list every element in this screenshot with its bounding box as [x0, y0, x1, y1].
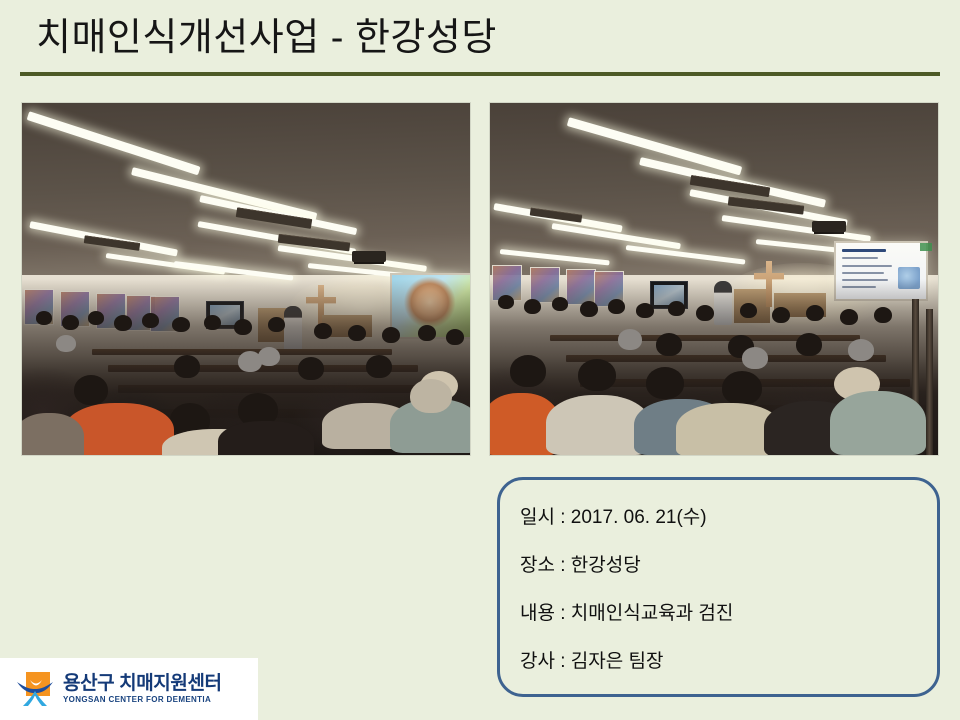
event-info-box: 일시 : 2017. 06. 21(수) 장소 : 한강성당 내용 : 치매인식… — [497, 477, 940, 697]
projector-icon — [352, 251, 386, 262]
audience-head — [114, 315, 132, 331]
audience-head — [204, 315, 221, 330]
audience-head — [722, 371, 762, 405]
audience-head — [806, 305, 824, 321]
audience-head — [298, 357, 324, 380]
audience-head — [840, 309, 858, 325]
photo-right — [490, 103, 938, 455]
audience-head — [74, 375, 108, 405]
audience-head — [36, 311, 52, 325]
audience-head — [696, 305, 714, 321]
audience-head — [498, 295, 514, 309]
info-line-date: 일시 : 2017. 06. 21(수) — [520, 494, 927, 542]
photo-left-scene — [22, 103, 470, 455]
yongsan-dementia-center-logo-icon — [16, 670, 54, 708]
projector-icon — [812, 221, 846, 232]
audience-head — [62, 315, 79, 330]
audience-head — [446, 329, 464, 345]
info-line-place: 장소 : 한강성당 — [520, 542, 927, 590]
logo-text: 용산구 치매지원센터 YONGSAN CENTER FOR DEMENTIA — [63, 673, 222, 705]
audience-torso — [22, 413, 84, 455]
audience-head — [578, 359, 616, 391]
audience-head — [268, 317, 285, 332]
audience-head — [418, 325, 436, 341]
audience-head — [668, 301, 685, 316]
audience-head — [772, 307, 790, 323]
presentation-slide: 치매인식개선사업 - 한강성당 — [0, 0, 960, 720]
audience-head — [314, 323, 332, 339]
audience-head — [410, 379, 452, 413]
photo-left — [22, 103, 470, 455]
title-divider — [20, 72, 940, 76]
screen-slide-line — [842, 265, 892, 267]
audience-head — [382, 327, 400, 343]
audience-head — [608, 299, 625, 314]
event-info-list: 일시 : 2017. 06. 21(수) 장소 : 한강성당 내용 : 치매인식… — [520, 494, 927, 686]
audience-head — [740, 303, 757, 318]
info-line-lecturer: 강사 : 김자은 팀장 — [520, 638, 927, 686]
audience-head — [636, 303, 654, 318]
audience-head — [656, 333, 682, 356]
exit-sign-icon — [920, 243, 932, 251]
screen-slide-title — [842, 249, 886, 252]
audience-head — [742, 347, 768, 369]
audience-head — [874, 307, 892, 323]
audience-head — [646, 367, 684, 399]
audience-torso — [830, 391, 926, 455]
audience-head — [88, 311, 104, 325]
audience-head — [258, 347, 280, 366]
audience-head — [56, 335, 76, 352]
audience-head — [234, 319, 252, 335]
page-title: 치매인식개선사업 - 한강성당 — [36, 14, 497, 62]
audience-head — [796, 333, 822, 356]
audience-head — [172, 317, 190, 332]
audience-head — [848, 339, 874, 361]
audience-head — [510, 355, 546, 387]
screen-slide-line — [842, 257, 878, 259]
logo-name-english: YONGSAN CENTER FOR DEMENTIA — [63, 694, 222, 705]
info-line-content: 내용 : 치매인식교육과 검진 — [520, 590, 927, 638]
audience-head — [552, 297, 568, 311]
audience-head — [348, 325, 366, 341]
photo-right-scene — [490, 103, 938, 455]
handrail — [926, 309, 933, 455]
audience-head — [366, 355, 392, 378]
audience-head — [580, 301, 598, 317]
audience-head — [174, 355, 200, 378]
audience-head — [618, 329, 642, 350]
audience-head — [524, 299, 541, 314]
audience-head — [142, 313, 159, 328]
logo-name-korean: 용산구 치매지원센터 — [63, 673, 222, 694]
organization-logo: 용산구 치매지원센터 YONGSAN CENTER FOR DEMENTIA — [0, 658, 258, 720]
audience-torso — [218, 421, 314, 455]
screen-slide-line — [842, 272, 884, 274]
